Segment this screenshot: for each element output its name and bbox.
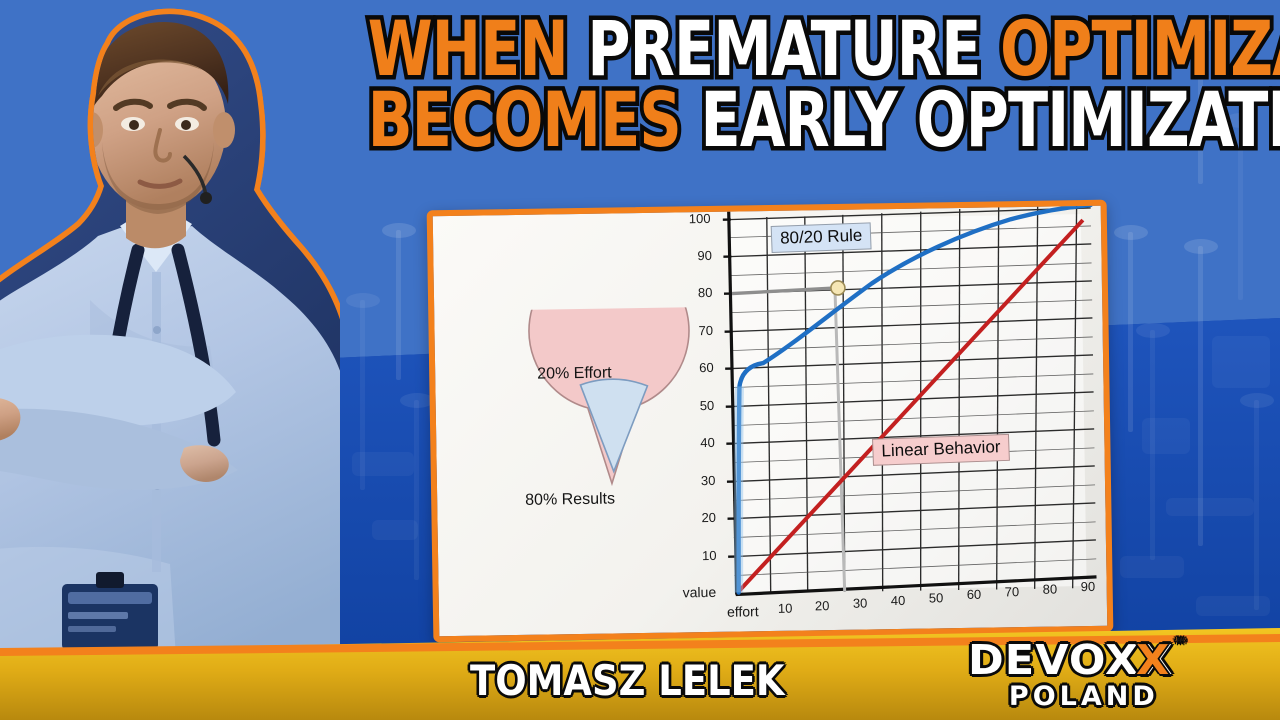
x-tick-70: 70: [1005, 584, 1020, 599]
x-tick-40: 40: [891, 593, 906, 608]
devoxx-wordmark: DEVOXX X ™: [968, 640, 1173, 681]
y-tick-100: 100: [689, 211, 711, 226]
y-tick-10: 10: [702, 548, 717, 563]
pie-slice-label-results: 80% Results: [525, 490, 615, 509]
line-chart: 100 90 80 70 60 50 40 30 20 10 value eff…: [671, 200, 1114, 643]
devoxx-x-accent: X: [1136, 640, 1170, 681]
callout-linear-behavior: Linear Behavior: [872, 434, 1010, 466]
speaker-cutout-svg: [0, 0, 340, 720]
speaker-name: TOMASZ LELEK: [470, 656, 785, 705]
speaker-photo: [0, 0, 340, 720]
y-tick-80: 80: [698, 285, 713, 300]
devoxx-trademark-icon: ™: [1174, 638, 1189, 651]
y-tick-20: 20: [701, 510, 716, 525]
y-tick-50: 50: [700, 398, 715, 413]
y-tick-60: 60: [699, 360, 714, 375]
x-tick-90: 90: [1081, 579, 1096, 594]
bottom-banner: TOMASZ LELEK DEVOXX X ™ POLAND: [0, 628, 1280, 720]
x-tick-50: 50: [929, 590, 944, 605]
line-chart-svg: [671, 200, 1114, 643]
x-tick-30: 30: [853, 595, 868, 610]
youtube-thumbnail: WHEN PREMATURE OPTIMIZATION BECOMES EARL…: [0, 0, 1280, 720]
y-tick-90: 90: [697, 248, 712, 263]
pie-slice-label-effort: 20% Effort: [537, 364, 612, 383]
x-tick-60: 60: [967, 587, 982, 602]
devoxx-region: POLAND: [1004, 683, 1164, 710]
x-tick-10: 10: [778, 601, 793, 616]
y-tick-40: 40: [700, 435, 715, 450]
callout-8020-rule: 80/20 Rule: [771, 222, 872, 253]
y-axis-label: value: [683, 584, 717, 601]
x-axis-label: effort: [727, 603, 759, 619]
x-tick-20: 20: [815, 598, 830, 613]
y-tick-30: 30: [701, 473, 716, 488]
x-tick-80: 80: [1043, 582, 1058, 597]
presentation-slide: 20% Effort 80% Results: [427, 200, 1114, 643]
devoxx-logo: DEVOXX X ™ POLAND: [968, 640, 1164, 710]
y-tick-70: 70: [698, 323, 713, 338]
